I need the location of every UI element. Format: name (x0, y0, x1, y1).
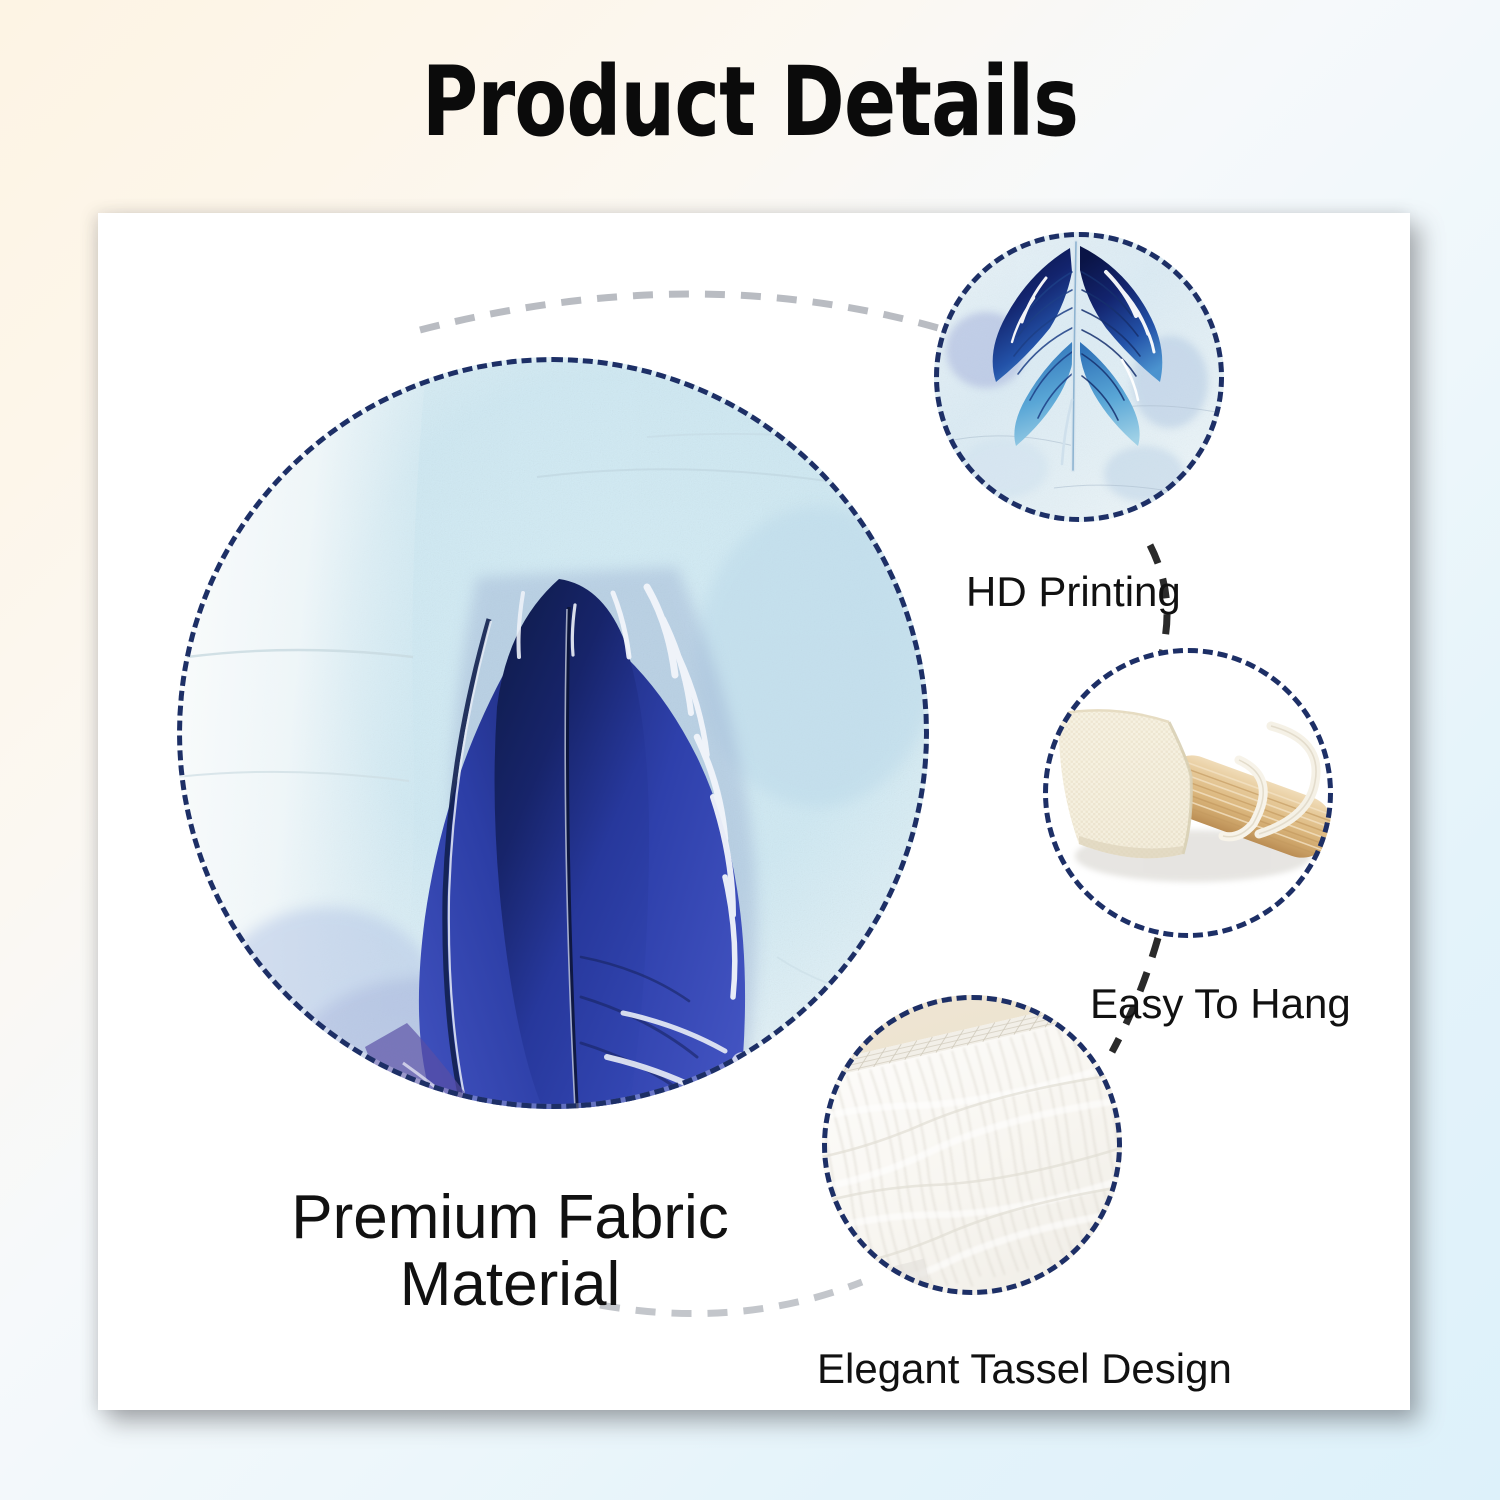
wooden-rod-with-cord-icon (1043, 648, 1333, 938)
feature-image-easy-to-hang (1043, 648, 1333, 938)
feature-label-hd-printing: HD Printing (966, 568, 1181, 616)
feature-label-premium-fabric-material: Premium Fabric Material (200, 1185, 820, 1319)
feature-image-elegant-tassel-design (822, 995, 1122, 1295)
feature-label-elegant-tassel-design: Elegant Tassel Design (817, 1345, 1232, 1393)
feature-label-easy-to-hang: Easy To Hang (1090, 980, 1351, 1028)
blue-watercolor-feather-icon (934, 232, 1224, 522)
white-fringe-tassel-icon (822, 995, 1122, 1295)
page-title: Product Details (150, 52, 1350, 153)
feature-image-premium-fabric-material (177, 357, 929, 1109)
feather-fabric-closeup-icon (177, 357, 929, 1109)
feature-image-hd-printing (934, 232, 1224, 522)
